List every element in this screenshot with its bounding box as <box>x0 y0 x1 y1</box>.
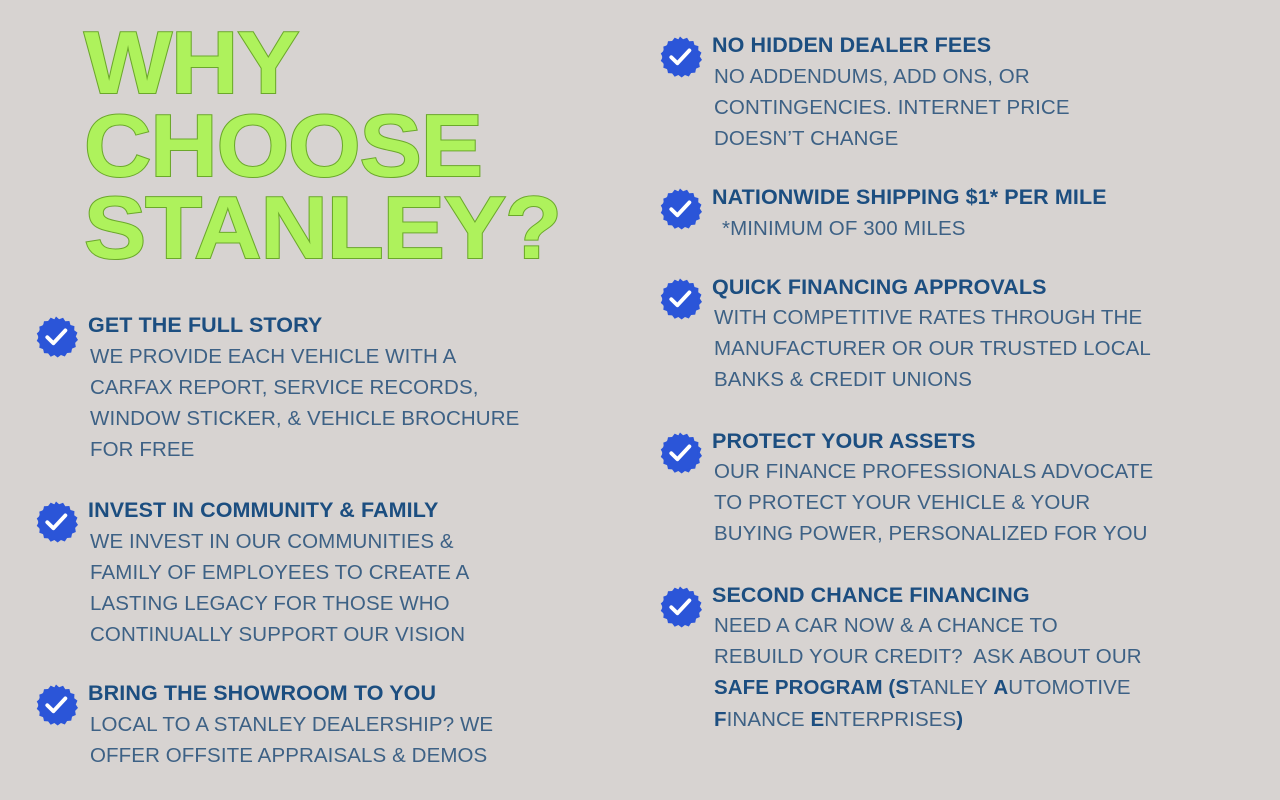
check-badge-icon <box>34 315 78 359</box>
right-feature-list: NO HIDDEN DEALER FEES NO ADDENDUMS, ADD … <box>658 32 1268 757</box>
feature-body: *MINIMUM OF 300 MILES <box>714 213 1268 244</box>
check-badge-icon <box>658 35 702 79</box>
feature-body: LOCAL TO A STANLEY DEALERSHIP? WE OFFER … <box>90 709 634 771</box>
left-column: WHY CHOOSE STANLEY? GET THE FULL STORY W… <box>0 0 640 800</box>
feature-body: NEED A CAR NOW & A CHANCE TOREBUILD YOUR… <box>714 610 1268 735</box>
feature-item-second-chance-financing: SECOND CHANCE FINANCING NEED A CAR NOW &… <box>658 582 1268 735</box>
left-feature-list: GET THE FULL STORY WE PROVIDE EACH VEHIC… <box>34 312 634 797</box>
feature-item-bring-the-showroom-to-you: BRING THE SHOWROOM TO YOU LOCAL TO A STA… <box>34 680 634 771</box>
feature-item-get-the-full-story: GET THE FULL STORY WE PROVIDE EACH VEHIC… <box>34 312 634 465</box>
poster-canvas: WHY CHOOSE STANLEY? GET THE FULL STORY W… <box>0 0 1280 800</box>
check-badge-icon <box>658 277 702 321</box>
feature-body: WE PROVIDE EACH VEHICLE WITH A CARFAX RE… <box>90 341 634 466</box>
feature-item-no-hidden-dealer-fees: NO HIDDEN DEALER FEES NO ADDENDUMS, ADD … <box>658 32 1268 154</box>
feature-body: OUR FINANCE PROFESSIONALS ADVOCATE TO PR… <box>714 456 1268 549</box>
check-badge-icon <box>34 500 78 544</box>
page-title: WHY CHOOSE STANLEY? <box>84 22 635 270</box>
feature-item-protect-your-assets: PROTECT YOUR ASSETS OUR FINANCE PROFESSI… <box>658 428 1268 550</box>
feature-title: NATIONWIDE SHIPPING $1* PER MILE <box>712 184 1268 212</box>
check-badge-icon <box>658 431 702 475</box>
feature-title: PROTECT YOUR ASSETS <box>712 428 1268 456</box>
feature-title: GET THE FULL STORY <box>88 312 634 340</box>
feature-title: BRING THE SHOWROOM TO YOU <box>88 680 634 708</box>
feature-title: NO HIDDEN DEALER FEES <box>712 32 1268 60</box>
feature-item-nationwide-shipping: NATIONWIDE SHIPPING $1* PER MILE *MINIMU… <box>658 184 1268 244</box>
feature-title: SECOND CHANCE FINANCING <box>712 582 1268 610</box>
feature-item-quick-financing-approvals: QUICK FINANCING APPROVALS WITH COMPETITI… <box>658 274 1268 396</box>
feature-item-invest-in-community-and-family: INVEST IN COMMUNITY & FAMILY WE INVEST I… <box>34 497 634 650</box>
feature-title: QUICK FINANCING APPROVALS <box>712 274 1268 302</box>
feature-body: WITH COMPETITIVE RATES THROUGH THE MANUF… <box>714 302 1268 395</box>
feature-body: NO ADDENDUMS, ADD ONS, OR CONTINGENCIES.… <box>714 61 1268 154</box>
right-column: NO HIDDEN DEALER FEES NO ADDENDUMS, ADD … <box>640 0 1280 800</box>
feature-title: INVEST IN COMMUNITY & FAMILY <box>88 497 634 525</box>
feature-body: WE INVEST IN OUR COMMUNITIES & FAMILY OF… <box>90 526 634 651</box>
check-badge-icon <box>34 683 78 727</box>
check-badge-icon <box>658 585 702 629</box>
check-badge-icon <box>658 187 702 231</box>
